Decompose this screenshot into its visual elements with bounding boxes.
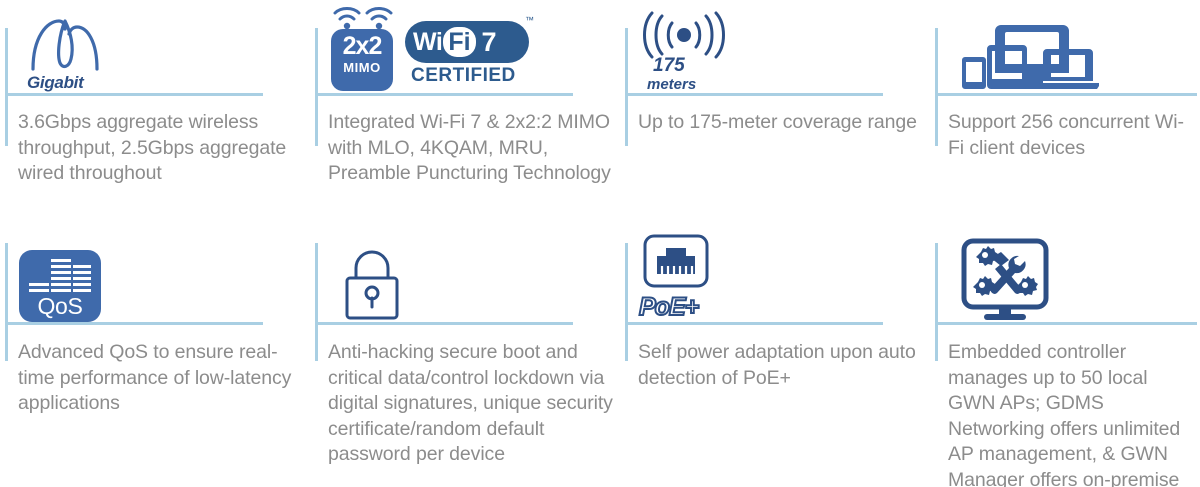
gigabit-icon-label: Gigabit [27,73,83,93]
wifi-certified-badge: Wi Fi 7 ™ CERTIFIED [405,5,535,93]
feature-cell-gigabit: Gigabit 3.6Gbps aggregate wireless throu… [0,0,310,215]
wifi-word-fi: Fi [443,27,475,57]
mimo-badge: 2x2 MIMO [329,5,397,93]
icon-container: 2x2 MIMO Wi Fi 7 ™ CERTIFIED [315,0,620,93]
cell-divider [5,322,263,325]
feature-cell-qos: QoS Advanced QoS to ensure real-time per… [0,215,310,487]
multi-device-icon [959,21,1099,93]
feature-cell-security: Anti-hacking secure boot and critical da… [310,215,620,487]
trademark-symbol: ™ [525,15,534,25]
icon-container: PoE+ [625,215,930,322]
rj45-port-icon [643,234,709,290]
cell-left-rail [625,28,628,146]
cell-left-rail [315,28,318,146]
coverage-distance-unit: meters [647,76,696,93]
feature-description: Support 256 concurrent Wi-Fi client devi… [948,110,1194,161]
cell-divider [625,93,883,96]
cell-left-rail [935,28,938,146]
cell-left-rail [5,28,8,146]
poe-plus-icon: PoE+ [639,234,729,322]
embedded-controller-icon [961,238,1049,322]
coverage-range-icon: 175 meters [639,11,729,93]
wifi-signal-icon [331,5,399,31]
feature-cell-clients: Support 256 concurrent Wi-Fi client devi… [930,0,1200,215]
wifi-generation: 7 [482,27,497,58]
feature-cell-coverage: 175 meters Up to 175-meter coverage rang… [620,0,930,215]
feature-description: Integrated Wi-Fi 7 & 2x2:2 MIMO with MLO… [328,110,614,187]
mimo-badge-body: 2x2 MIMO [331,29,393,91]
feature-description: Up to 175-meter coverage range [638,110,924,136]
mimo-label: MIMO [331,60,393,75]
icon-container [935,215,1200,322]
feature-grid: Gigabit 3.6Gbps aggregate wireless throu… [0,0,1200,487]
padlock-icon [339,246,405,322]
feature-description: Self power adaptation upon auto detectio… [638,340,924,391]
poe-icon-label: PoE+ [639,293,698,322]
icon-container [935,0,1200,93]
cell-divider [935,322,1197,325]
cell-divider [935,93,1197,96]
feature-description: 3.6Gbps aggregate wireless throughput, 2… [18,110,304,187]
certified-label: CERTIFIED [411,65,516,87]
coverage-distance-value: 175 [653,55,685,77]
feature-cell-poe: PoE+ Self power adaptation upon auto det… [620,215,930,487]
icon-container: Gigabit [5,0,310,93]
gigabit-icon: Gigabit [19,15,111,93]
feature-description: Advanced QoS to ensure real-time perform… [18,340,304,417]
cell-left-rail [5,243,8,361]
cell-divider [5,93,263,96]
cell-left-rail [625,243,628,361]
wifi7-certified-icon: 2x2 MIMO Wi Fi 7 ™ CERTIFIED [329,5,535,93]
icon-container [315,215,620,322]
mimo-value: 2x2 [331,32,393,61]
icon-container: QoS [5,215,310,322]
cell-divider [625,322,883,325]
feature-description: Embedded controller manages up to 50 loc… [948,340,1194,487]
qos-icon: QoS [19,250,101,322]
gigabit-glyph [19,15,111,73]
wifi-word-wi: Wi [413,28,442,57]
wifi-pill: Wi Fi 7 [405,21,529,63]
icon-container: 175 meters [625,0,930,93]
feature-description: Anti-hacking secure boot and critical da… [328,340,614,468]
cell-left-rail [935,243,938,361]
feature-cell-controller: Embedded controller manages up to 50 loc… [930,215,1200,487]
cell-divider [315,322,573,325]
feature-cell-wifi7: 2x2 MIMO Wi Fi 7 ™ CERTIFIED [310,0,620,215]
cell-left-rail [315,243,318,361]
cell-divider [315,93,573,96]
qos-icon-label: QoS [19,293,101,320]
